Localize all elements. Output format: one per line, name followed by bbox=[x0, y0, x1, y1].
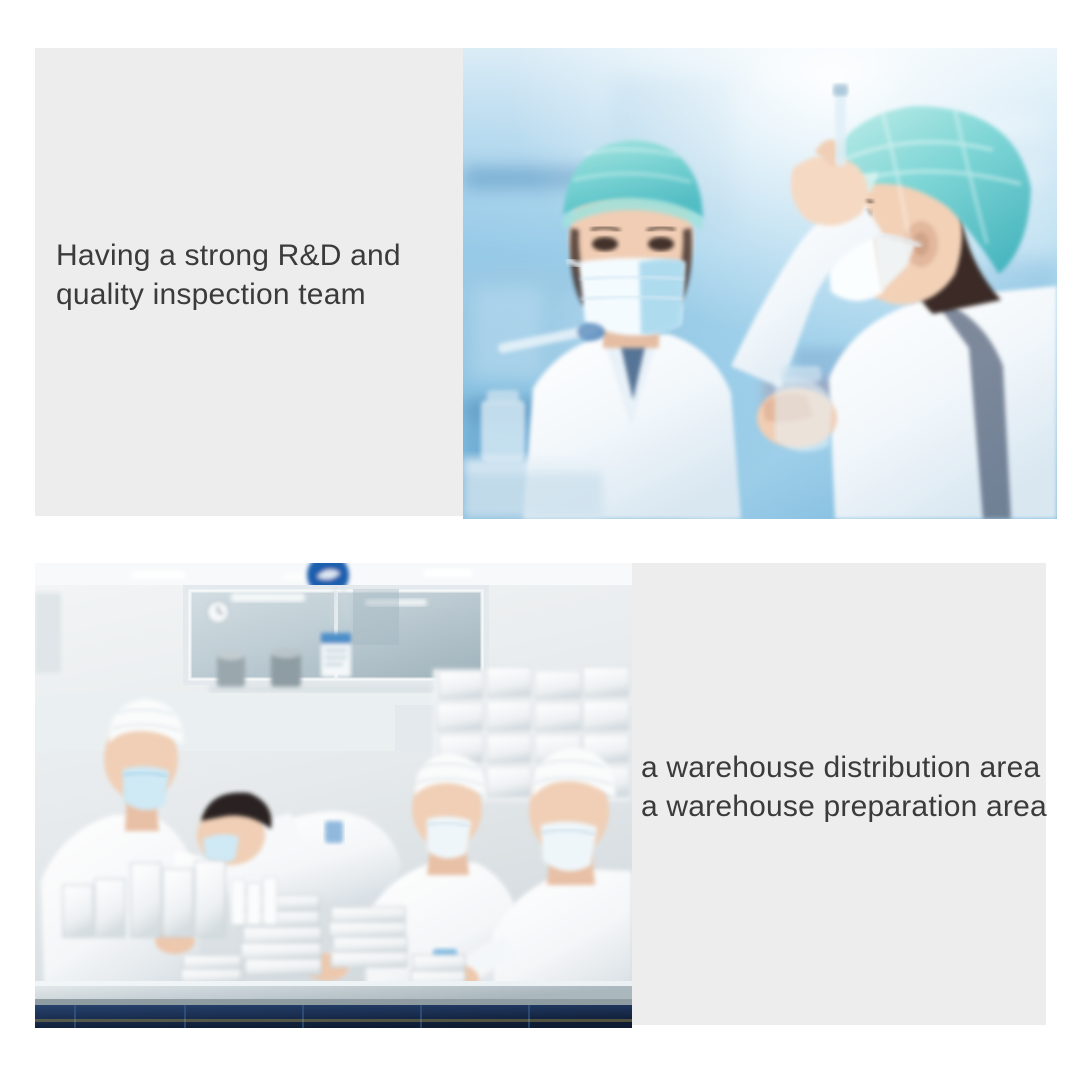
section-warehouse: a warehouse distribution area a warehous… bbox=[35, 563, 1046, 1028]
caption-rd-quality: Having a strong R&D and quality inspecti… bbox=[56, 236, 456, 314]
steel-table bbox=[35, 981, 632, 1005]
lab-technicians-photo bbox=[463, 48, 1057, 519]
notice-board bbox=[321, 633, 351, 677]
wall-clock bbox=[207, 601, 229, 623]
warehouse-packing-illustration bbox=[35, 563, 632, 1028]
caption-warehouse: a warehouse distribution area a warehous… bbox=[641, 748, 1051, 826]
poster-page: Having a strong R&D and quality inspecti… bbox=[0, 0, 1080, 1080]
warehouse-packing-photo bbox=[35, 563, 632, 1028]
lab-technicians-illustration bbox=[463, 48, 1057, 519]
floor-under-table bbox=[35, 1005, 632, 1028]
section-rd-quality: Having a strong R&D and quality inspecti… bbox=[35, 48, 1057, 519]
